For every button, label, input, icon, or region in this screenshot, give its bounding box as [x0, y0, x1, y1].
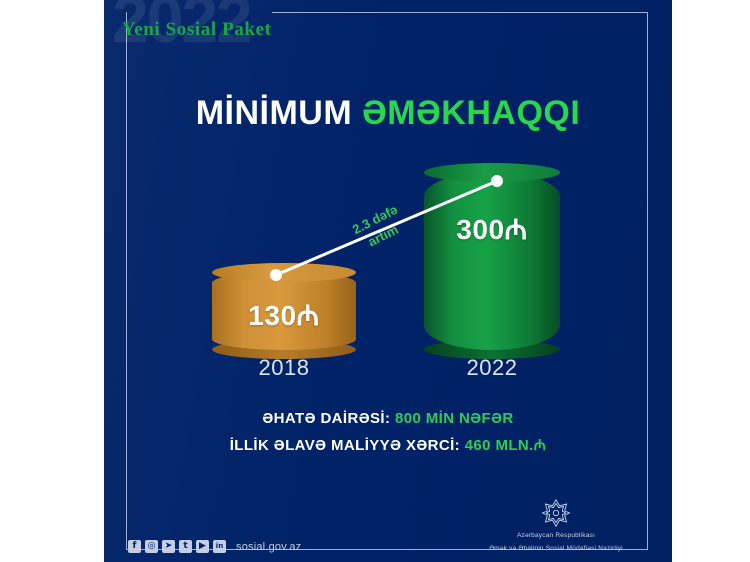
stat-annual-cost: İLLİK ƏLAVƏ MALİYYƏ XƏRCİ: 460 MLN.₼: [104, 435, 672, 455]
instagram-icon[interactable]: ◎: [145, 540, 158, 553]
page-title: MİNİMUM ƏMƏKHAQQI: [104, 94, 672, 133]
bar-2022-top-cap: [424, 163, 560, 182]
title-part-emekhaqqi: ƏMƏKHAQQI: [362, 94, 580, 132]
bar-2022-body: [424, 172, 560, 350]
youtube-icon[interactable]: ▶: [196, 540, 209, 553]
stat-annual-cost-label: İLLİK ƏLAVƏ MALİYYƏ XƏRCİ:: [230, 437, 460, 454]
bar-2018-value-label: 130₼: [212, 296, 356, 334]
stat-coverage: ƏHATƏ DAİRƏSİ: 800 MİN NƏFƏR: [104, 410, 672, 427]
linkedin-icon[interactable]: in: [213, 540, 226, 553]
growth-annotation-line1: 2.3 dəfə: [317, 184, 434, 255]
growth-connector: [104, 0, 672, 562]
bar-2018-top-cap: [212, 263, 356, 282]
bar-2022-value-label: 300₼: [424, 210, 560, 248]
title-part-minimum: MİNİMUM: [196, 94, 352, 132]
social-bar: f ◎ ➤ t ▶ in sosial.gov.az: [128, 540, 301, 553]
bar-2022: 300₼: [424, 172, 560, 350]
tagline: Yeni Sosial Paket: [122, 19, 272, 41]
bar-2018-body: [212, 272, 356, 350]
website-label[interactable]: sosial.gov.az: [236, 541, 301, 553]
decorative-frame-top: [272, 12, 648, 13]
ministry-line1: Azərbaycan Respublikası: [456, 531, 656, 541]
stats-block: ƏHATƏ DAİRƏSİ: 800 MİN NƏFƏR İLLİK ƏLAVƏ…: [104, 410, 672, 463]
category-label-2022: 2022: [424, 355, 560, 381]
growth-annotation: 2.3 dəfə artım: [317, 184, 442, 271]
star-emblem-icon: [541, 498, 571, 528]
stat-coverage-value: 800 MİN NƏFƏR: [395, 410, 514, 427]
canvas-sheen: [104, 0, 672, 562]
poster-canvas: 2022 Yeni Sosial Paket MİNİMUM ƏMƏKHAQQI…: [104, 0, 672, 562]
stat-annual-cost-value: 460 MLN.₼: [465, 437, 547, 454]
bar-2018-bottom-cap: [212, 340, 356, 359]
ministry-line2: Əmək və Əhalinin Sosial Müdafiəsi Nazirl…: [456, 544, 656, 554]
twitter-icon[interactable]: t: [179, 540, 192, 553]
category-label-2018: 2018: [212, 355, 356, 381]
decorative-frame: [126, 12, 648, 550]
infographic-poster: 2022 Yeni Sosial Paket MİNİMUM ƏMƏKHAQQI…: [0, 0, 750, 562]
growth-annotation-line2: artım: [325, 200, 442, 271]
facebook-icon[interactable]: f: [128, 540, 141, 553]
stat-coverage-label: ƏHATƏ DAİRƏSİ:: [262, 410, 390, 427]
telegram-icon[interactable]: ➤: [162, 540, 175, 553]
bar-2018: 130₼: [212, 272, 356, 350]
bar-chart: 130₼ 300₼ 2018 2022 2.3 dəfə artım: [104, 0, 672, 562]
bar-2022-bottom-cap: [424, 340, 560, 359]
ministry-block: Azərbaycan Respublikası Əmək və Əhalinin…: [456, 498, 656, 554]
